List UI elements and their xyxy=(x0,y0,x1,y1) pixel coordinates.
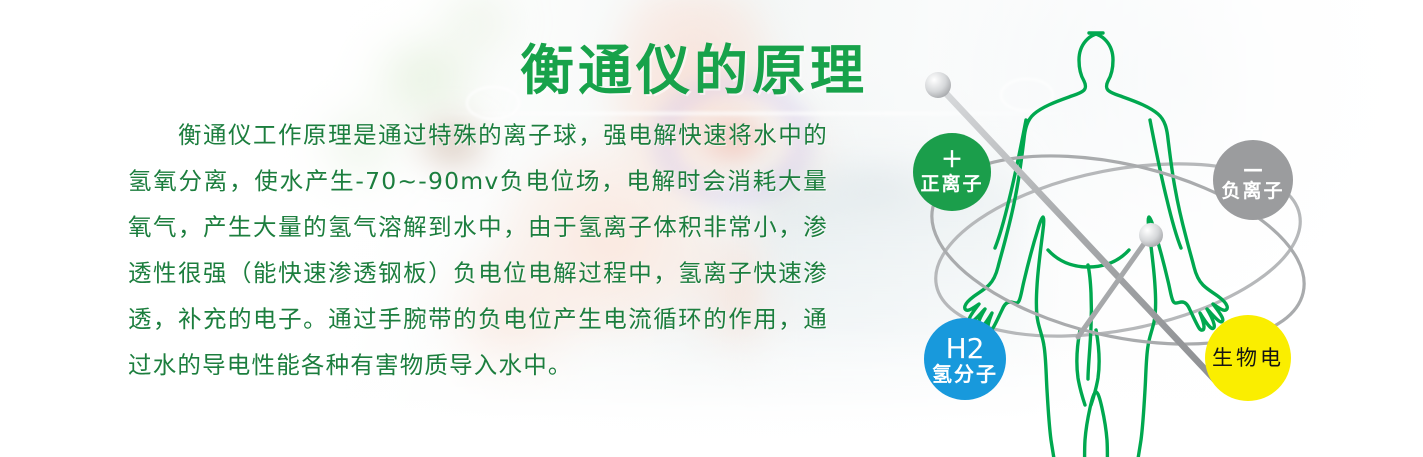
badge-negative-ion[interactable]: — 负离子 xyxy=(1213,140,1293,220)
minus-icon: — xyxy=(1243,159,1263,179)
badge-positive-ion[interactable]: ＋ 正离子 xyxy=(913,133,991,211)
human-body-outline xyxy=(965,33,1228,457)
principle-paragraph: 衡通仪工作原理是通过特殊的离子球，强电解快速将水中的氢氧分离，使水产生-70~-… xyxy=(128,112,828,388)
badge-negative-ion-label: 负离子 xyxy=(1221,182,1284,201)
body-copy: 衡通仪工作原理是通过特殊的离子球，强电解快速将水中的氢氧分离，使水产生-70~-… xyxy=(128,112,828,388)
plus-icon: ＋ xyxy=(941,150,963,172)
badge-bioelectricity[interactable]: 生物电 xyxy=(1205,315,1291,401)
badge-hydrogen-label: 氢分子 xyxy=(932,364,998,384)
badge-bioelectricity-label: 生物电 xyxy=(1212,348,1284,369)
page-title: 衡通仪的原理 xyxy=(520,26,868,105)
badge-hydrogen-molecule[interactable]: H2 氢分子 xyxy=(924,318,1006,400)
promo-banner: 衡通仪的原理 衡通仪工作原理是通过特殊的离子球，强电解快速将水中的氢氧分离，使水… xyxy=(0,0,1423,457)
hydrogen-formula: H2 xyxy=(946,335,985,363)
badge-positive-ion-label: 正离子 xyxy=(920,175,983,194)
